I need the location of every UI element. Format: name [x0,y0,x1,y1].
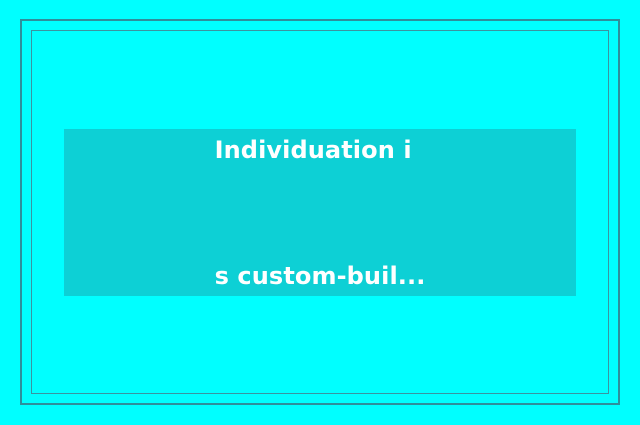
card-text-block: Individuation i s custom-buil... [215,45,426,381]
card-text-line-2: s custom-buil... [215,255,426,297]
card-text-line-1: Individuation i [215,129,426,171]
text-card-panel: Individuation i s custom-buil... [64,129,576,296]
screenshot-canvas: Individuation i s custom-buil... [0,0,640,425]
